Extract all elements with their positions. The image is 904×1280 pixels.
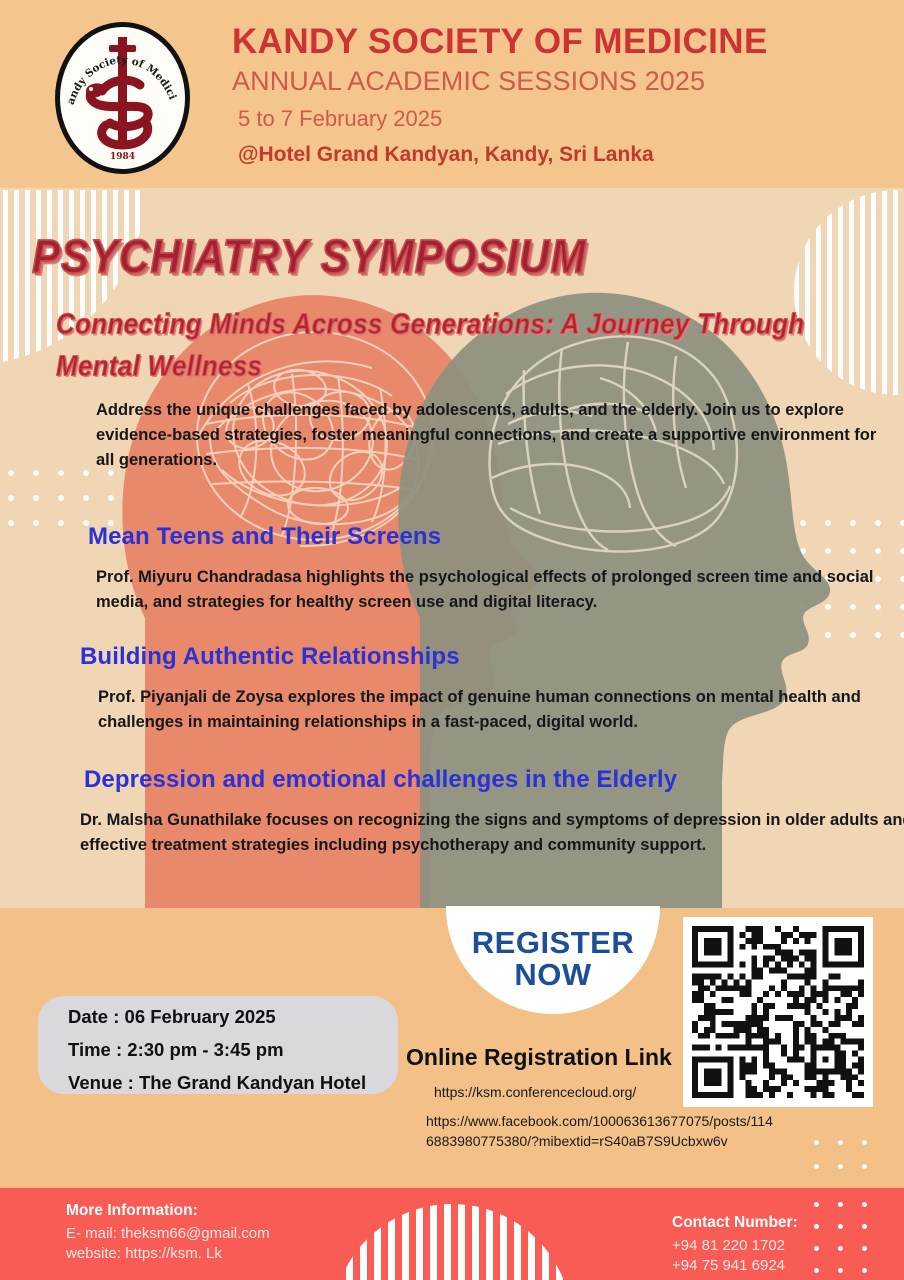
session-item: Mean Teens and Their Screens Prof. Miyur… (88, 523, 904, 615)
session-title: Mean Teens and Their Screens (88, 523, 904, 551)
contact-number-block: Contact Number: +94 81 220 1702 +94 75 9… (672, 1214, 798, 1277)
session-title: Depression and emotional challenges in t… (84, 766, 904, 794)
more-information-block: More Information: E- mail: theksm66@gmai… (66, 1202, 270, 1265)
organization-title: KANDY SOCIETY OF MEDICINE (232, 22, 892, 62)
event-dates: 5 to 7 February 2025 (238, 106, 892, 132)
session-description: Dr. Malsha Gunathilake focuses on recogn… (80, 808, 904, 858)
footer-website[interactable]: website: https://ksm. Lk (66, 1245, 270, 1262)
contact-number-heading: Contact Number: (672, 1214, 798, 1232)
session-item: Building Authentic Relationships Prof. P… (80, 643, 904, 735)
symposium-title: PSYCHIATRY SYMPOSIUM (32, 230, 586, 284)
header-text-block: KANDY SOCIETY OF MEDICINE ANNUAL ACADEMI… (232, 22, 892, 167)
dot-grid-decor-footer (814, 1188, 884, 1280)
header-band: Kandy Society of Medicine 1984 KANDY SOC… (0, 0, 904, 188)
event-subtitle: ANNUAL ACADEMIC SESSIONS 2025 (232, 66, 892, 97)
striped-fan-decor-footer (332, 1204, 572, 1280)
session-description: Prof. Piyanjali de Zoysa explores the im… (98, 685, 904, 735)
poster-root: Kandy Society of Medicine 1984 KANDY SOC… (0, 0, 904, 1280)
event-venue: @Hotel Grand Kandyan, Kandy, Sri Lanka (238, 143, 892, 167)
kandy-society-of-medicine-logo: Kandy Society of Medicine 1984 (55, 22, 190, 174)
more-information-heading: More Information: (66, 1202, 270, 1220)
session-item: Depression and emotional challenges in t… (84, 766, 904, 858)
register-badge-line1: REGISTER (472, 927, 634, 958)
session-description: Prof. Miyuru Chandradasa highlights the … (96, 565, 904, 615)
event-details-card: Date : 06 February 2025 Time : 2:30 pm -… (38, 996, 398, 1094)
footer-email[interactable]: E- mail: theksm66@gmail.com (66, 1225, 270, 1242)
symposium-description: Address the unique challenges faced by a… (96, 398, 886, 473)
footer-band: More Information: E- mail: theksm66@gmai… (0, 1188, 904, 1280)
detail-time: Time : 2:30 pm - 3:45 pm (38, 1039, 398, 1061)
svg-text:1984: 1984 (110, 152, 135, 162)
detail-venue: Venue : The Grand Kandyan Hotel (38, 1072, 398, 1094)
footer-phone-1: +94 81 220 1702 (672, 1237, 798, 1254)
registration-qr-code[interactable] (683, 917, 873, 1107)
dot-grid-decor-lower-right (814, 1140, 884, 1190)
registration-link-heading: Online Registration Link (406, 1044, 672, 1071)
footer-phone-2: +94 75 941 6924 (672, 1257, 798, 1274)
session-title: Building Authentic Relationships (80, 643, 904, 671)
register-badge-line2: NOW (514, 958, 591, 993)
symposium-subtitle: Connecting Minds Across Generations: A J… (56, 304, 856, 387)
detail-date: Date : 06 February 2025 (38, 1006, 398, 1028)
registration-url-primary[interactable]: https://ksm.conferencecloud.org/ (434, 1084, 636, 1100)
registration-url-secondary[interactable]: https://www.facebook.com/100063613677075… (426, 1112, 776, 1152)
